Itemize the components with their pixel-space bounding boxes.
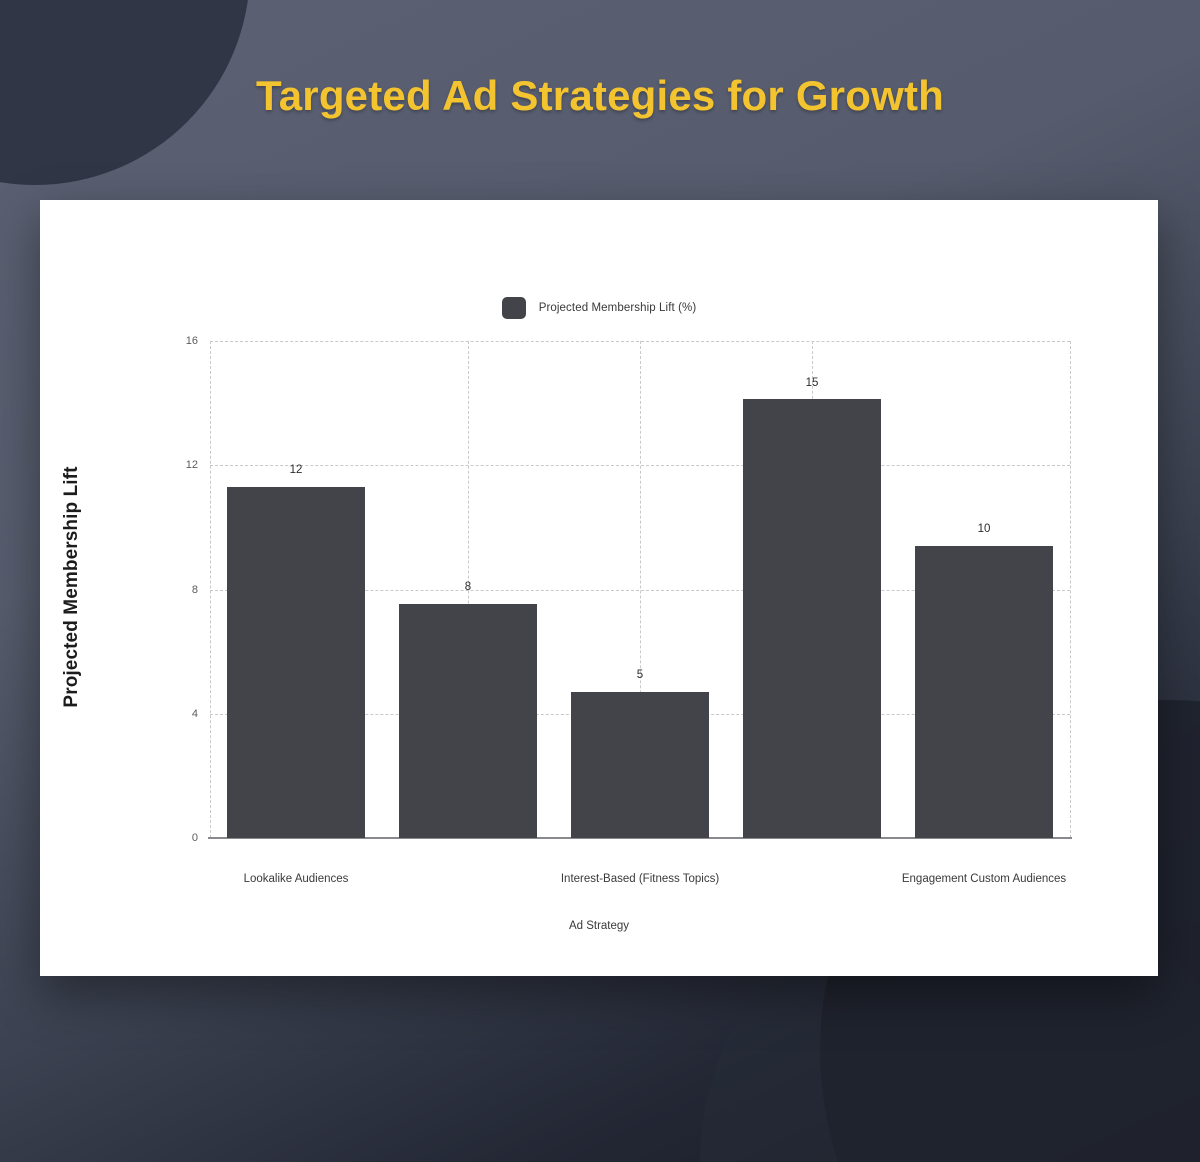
chart-legend: Projected Membership Lift (%) <box>40 297 1158 319</box>
y-tick-label: 0 <box>192 832 198 844</box>
bar-value-label: 10 <box>978 523 991 535</box>
bar-value-label: 5 <box>637 669 643 681</box>
x-tick-label-0: Lookalike Audiences <box>244 873 349 885</box>
bar-4[interactable] <box>915 546 1053 838</box>
bar-value-label: 8 <box>465 581 471 593</box>
bar-value-label: 12 <box>290 464 303 476</box>
x-axis-title: Ad Strategy <box>40 920 1158 932</box>
plot-area: 16 12 8 4 0 12 8 5 15 10 Lookalike Audie… <box>210 341 1070 838</box>
screenshot-root: Targeted Ad Strategies for Growth Projec… <box>0 0 1200 1162</box>
bar-3[interactable] <box>743 399 881 838</box>
x-tick-label-2: Interest-Based (Fitness Topics) <box>561 873 719 885</box>
y-tick-label: 12 <box>186 459 198 471</box>
y-tick-label: 16 <box>186 335 198 347</box>
legend-item-label: Projected Membership Lift (%) <box>539 302 697 314</box>
gridline-x-4 <box>1070 341 1071 838</box>
bar-2[interactable] <box>571 692 709 838</box>
bar-value-label: 15 <box>806 377 819 389</box>
gridline-x-0 <box>210 341 211 838</box>
y-tick-label: 8 <box>192 584 198 596</box>
bar-1[interactable] <box>399 604 537 838</box>
bar-0[interactable] <box>227 487 365 838</box>
chart-card: Projected Membership Lift (%) Projected … <box>40 200 1158 976</box>
page-title: Targeted Ad Strategies for Growth <box>0 72 1200 120</box>
x-tick-label-4: Engagement Custom Audiences <box>902 873 1066 885</box>
legend-swatch-icon <box>502 297 526 319</box>
y-axis-title: Projected Membership Lift <box>61 407 83 767</box>
y-tick-label: 4 <box>192 708 198 720</box>
